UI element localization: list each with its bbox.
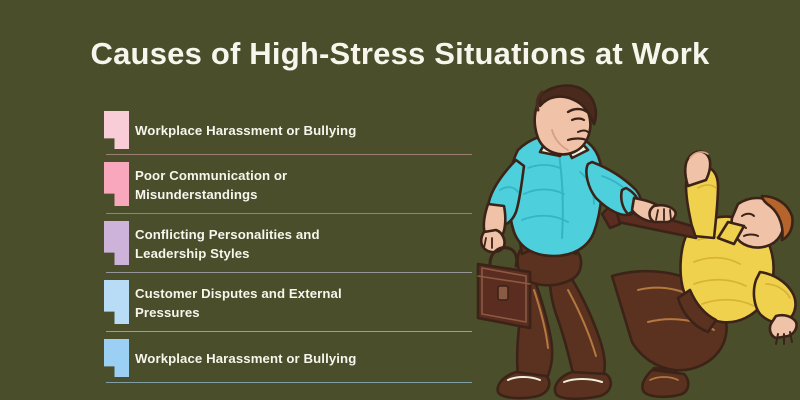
item-divider [106, 154, 472, 155]
list-item: Conflicting Personalities and Leadership… [104, 220, 376, 273]
bookmark-flag-icon [104, 221, 129, 265]
list-item-label: Conflicting Personalities and Leadership… [135, 225, 376, 263]
list-item: Customer Disputes and External Pressures [104, 279, 376, 332]
list-item: Poor Communication or Misunderstandings [104, 161, 376, 214]
bookmark-flag-icon [104, 111, 129, 149]
bookmark-flag-icon [104, 280, 129, 324]
list-item-label: Workplace Harassment or Bullying [135, 121, 356, 140]
list-item: Workplace Harassment or Bullying [104, 338, 376, 383]
bookmark-flag-icon [104, 339, 129, 377]
page-title: Causes of High-Stress Situations at Work [0, 36, 800, 72]
list-item-label: Poor Communication or Misunderstandings [135, 166, 376, 204]
list-item-label: Customer Disputes and External Pressures [135, 284, 376, 322]
item-divider [106, 382, 472, 383]
bookmark-flag-icon [104, 162, 129, 206]
workplace-conflict-illustration [442, 76, 800, 400]
causes-list: Workplace Harassment or Bullying Poor Co… [104, 110, 376, 389]
item-divider [106, 331, 472, 332]
list-item: Workplace Harassment or Bullying [104, 110, 376, 155]
infographic-canvas: Causes of High-Stress Situations at Work… [0, 0, 800, 400]
list-item-label: Workplace Harassment or Bullying [135, 349, 356, 368]
item-divider [106, 213, 472, 214]
item-divider [106, 272, 472, 273]
